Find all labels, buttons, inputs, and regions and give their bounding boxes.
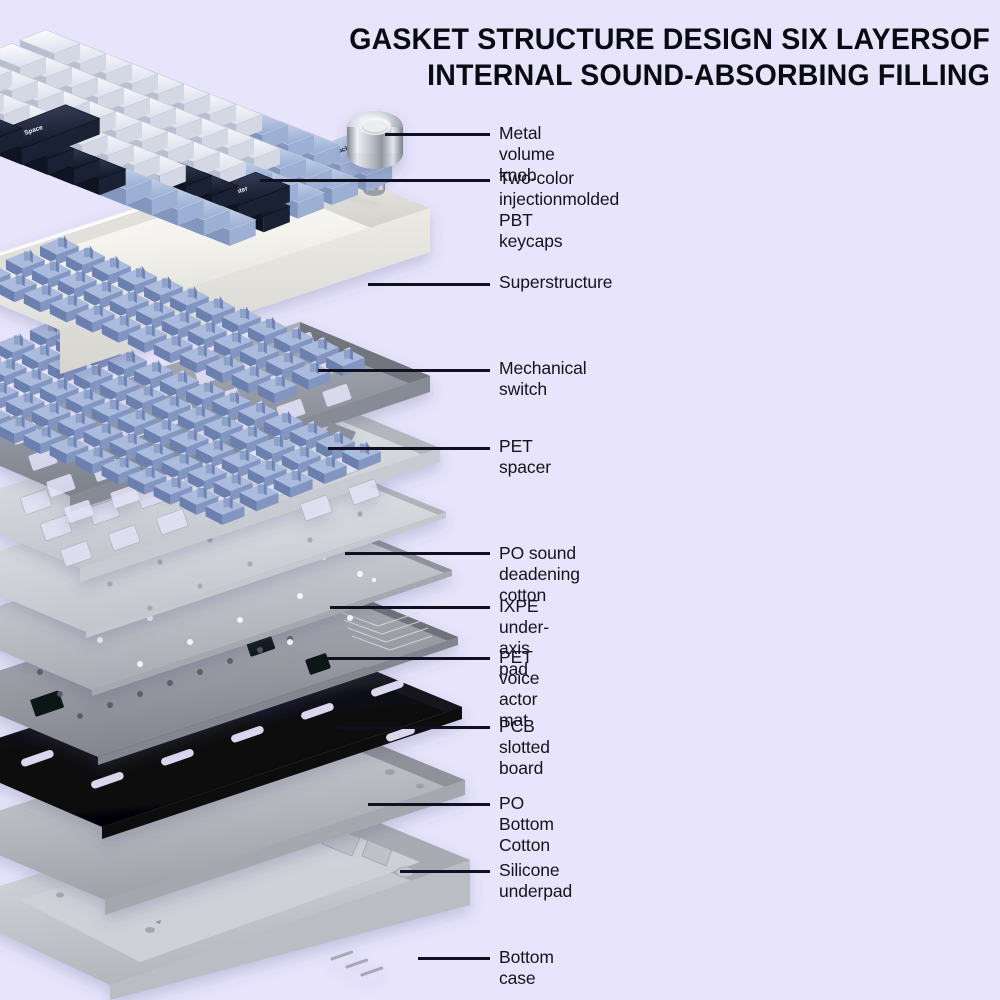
exploded-keyboard-diagram: Backspace09876POIUYLKJHEnterMNSpace GASK… — [0, 0, 1000, 1000]
leader-line-mechanical-switch — [318, 369, 490, 372]
leader-line-ixpe-under-axis-pad — [330, 606, 490, 609]
callout-label-po-bottom-cotton: PO Bottom Cotton — [499, 793, 554, 856]
title-line-1: GASKET STRUCTURE DESIGN SIX LAYERSOF — [240, 22, 991, 58]
leader-line-superstructure — [368, 283, 490, 286]
callout-label-pet-spacer: PET spacer — [499, 436, 551, 478]
title-line-2: INTERNAL SOUND-ABSORBING FILLING — [240, 58, 991, 94]
callout-label-pcb-slotted-board: PCB slotted board — [499, 716, 550, 779]
leader-line-po-sound-deadening — [345, 552, 490, 555]
callout-label-bottom-case: Bottom case — [499, 947, 554, 989]
metal-volume-knob-part — [347, 111, 403, 169]
leader-line-pcb-slotted-board — [338, 726, 490, 729]
leader-line-pbt-keycaps — [260, 179, 490, 182]
page-title: GASKET STRUCTURE DESIGN SIX LAYERSOF INT… — [240, 22, 991, 94]
leader-line-silicone-underpad — [400, 870, 490, 873]
callout-label-silicone-underpad: Silicone underpad — [499, 860, 572, 902]
leader-line-bottom-case — [418, 957, 490, 960]
callout-label-mechanical-switch: Mechanical switch — [499, 358, 587, 400]
leader-line-pet-spacer — [328, 447, 490, 450]
callout-label-pbt-keycaps: Two-color injectionmolded PBT keycaps — [499, 168, 619, 252]
leader-line-po-bottom-cotton — [368, 803, 490, 806]
leader-line-metal-volume-knob — [385, 133, 490, 136]
leader-line-pet-voice-actor-mat — [325, 657, 490, 660]
callout-label-superstructure: Superstructure — [499, 272, 612, 293]
